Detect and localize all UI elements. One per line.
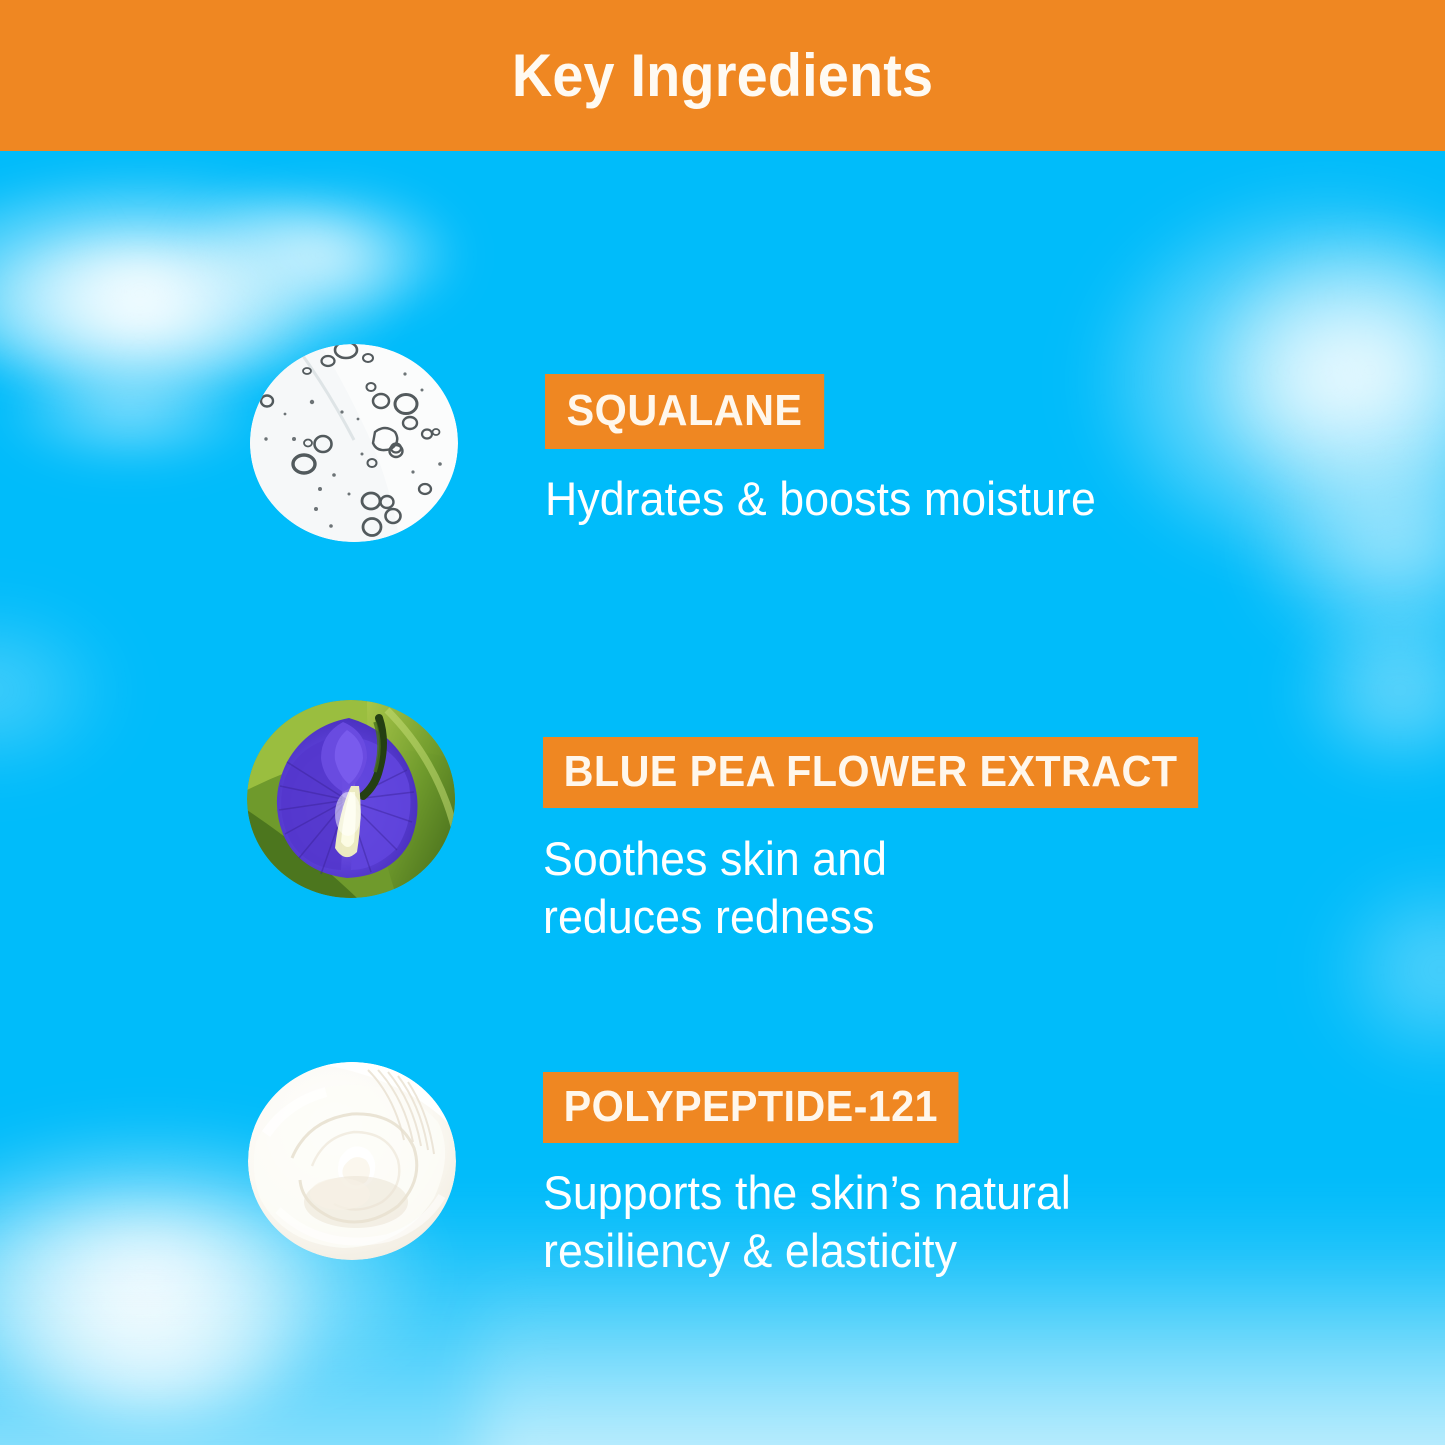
key-ingredients-infographic: Key Ingredients [0,0,1445,1445]
cloud-right-mid [1270,820,1445,1120]
ingredient-name-badge: BLUE PEA FLOWER EXTRACT [543,737,1198,808]
ingredient-text-polypeptide-121: POLYPEPTIDE-121 Supports the skin’s natu… [543,1072,1099,1281]
cloud-left-mid [0,560,180,820]
ingredient-name-badge: POLYPEPTIDE-121 [543,1072,959,1143]
white-cream-swirl-icon [248,1062,456,1260]
ingredient-description: Soothes skin and reduces redness [543,830,887,947]
ingredient-row-squalane: SQUALANE Hydrates & boosts moisture [250,344,1125,542]
ingredient-row-polypeptide-121: POLYPEPTIDE-121 Supports the skin’s natu… [248,1062,1099,1281]
ingredient-description: Supports the skin’s natural resiliency &… [543,1164,1071,1281]
cloud-bottom-wash-2 [480,1270,1445,1445]
blue-pea-flower-icon [247,700,455,898]
cloud-upper-left-3 [110,150,530,360]
cloud-upper-right-2 [1130,160,1445,580]
cloud-upper-right-3 [1180,380,1445,710]
ingredient-text-blue-pea-flower-extract: BLUE PEA FLOWER EXTRACT Soothes skin and… [543,737,1240,947]
ingredient-row-blue-pea-flower-extract: BLUE PEA FLOWER EXTRACT Soothes skin and… [247,700,1240,947]
clear-gel-bubbles-icon [250,344,458,542]
ingredient-description: Hydrates & boosts moisture [545,470,1096,528]
cloud-upper-right-4 [1240,560,1445,820]
page-title: Key Ingredients [512,41,933,110]
ingredient-text-squalane: SQUALANE Hydrates & boosts moisture [545,374,1125,528]
header-banner: Key Ingredients [0,0,1445,151]
ingredient-name-badge: SQUALANE [545,374,824,449]
